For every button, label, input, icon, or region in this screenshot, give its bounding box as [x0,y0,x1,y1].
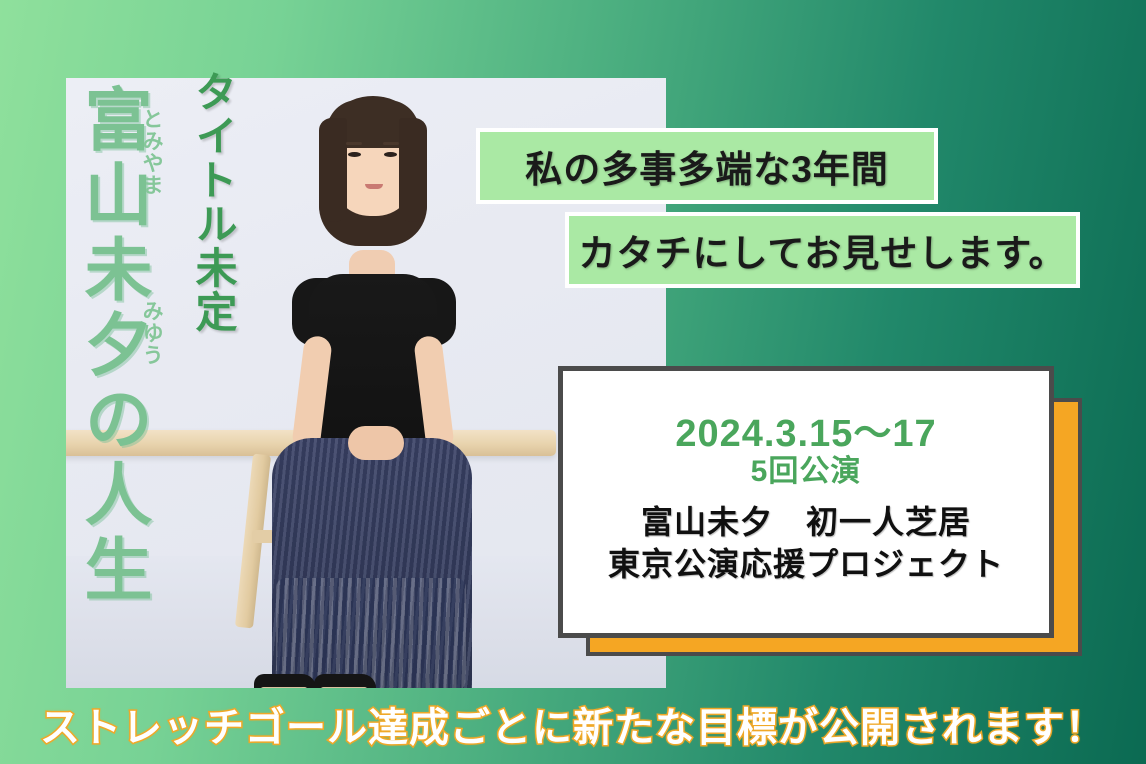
vertical-name-title: 富山未夕の人生 [78,84,146,609]
stretch-goal-banner: ストレッチゴール達成ごとに新たな目標が公開されます！ [0,684,1146,764]
callout-box-1: 私の多事多端な3年間 [476,128,938,204]
person-skirt-sheer-hem [276,578,466,688]
performance-count: 5回公演 [751,455,862,490]
project-line-1: 富山未夕 初一人芝居 [641,502,971,544]
person-hands [348,426,404,460]
project-line-2: 東京公演応援プロジェクト [608,544,1004,586]
person-eye-right [384,152,397,157]
performance-dates: 2024.3.15〜17 [675,413,936,456]
person-brow-left [346,142,362,145]
person-hair-right [399,118,427,222]
person-eye-left [348,152,361,157]
info-box: 2024.3.15〜17 5回公演 富山未夕 初一人芝居 東京公演応援プロジェク… [558,366,1054,638]
poster-root: 富山未夕の人生 とみやま みゆう タイトル未定 私の多事多端な3年間 カタチにし… [0,0,1146,764]
callout-box-2: カタチにしてお見せします。 [565,212,1080,288]
person-hair-left [319,118,347,222]
ruby-family-name: とみやま [140,108,163,196]
person-mouth [365,184,383,189]
stretch-goal-text: ストレッチゴール達成ごとに新たな目標が公開されます！ [40,695,1106,753]
ruby-given-name: みゆう [140,300,163,366]
title-undecided-label: タイトル未定 [192,70,234,334]
person-brow-right [383,142,399,145]
